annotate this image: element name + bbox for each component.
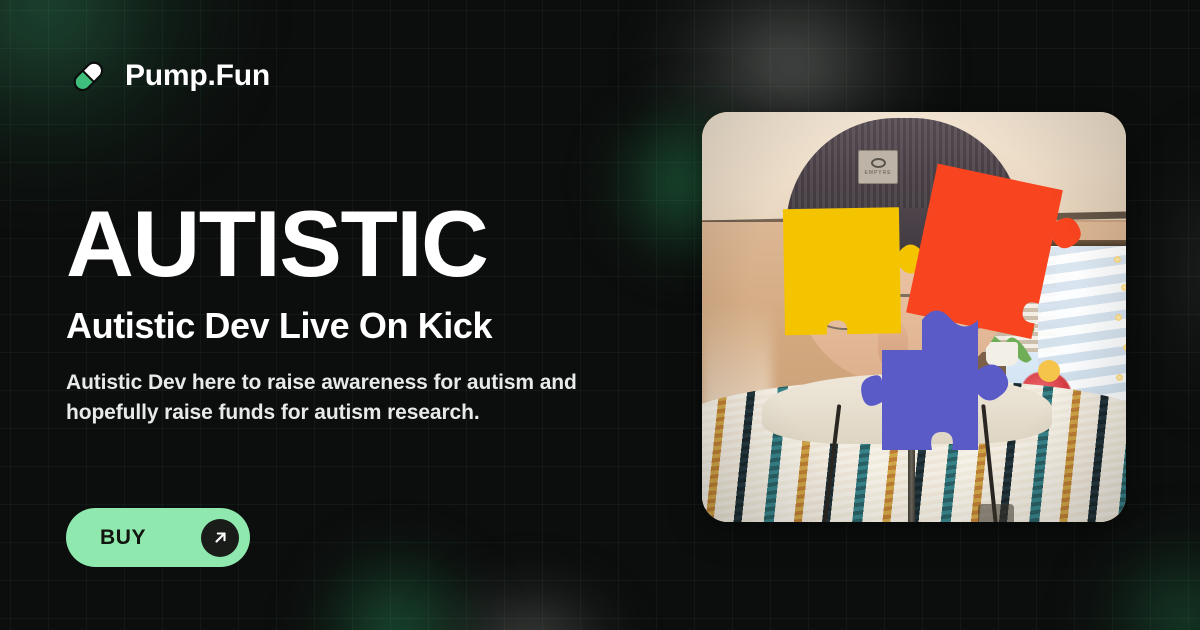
patch-logo-text: EMPYRE bbox=[862, 170, 894, 176]
token-image-card[interactable]: EMPYRE bbox=[702, 112, 1126, 522]
brand-lockup[interactable]: Pump.Fun bbox=[68, 56, 270, 96]
arrow-up-right-icon bbox=[201, 519, 239, 557]
pill-capsule-icon bbox=[68, 56, 108, 96]
patch-logo-mark bbox=[871, 158, 886, 168]
page-subtitle: Autistic Dev Live On Kick bbox=[66, 306, 666, 346]
beanie-brand-patch: EMPYRE bbox=[858, 150, 898, 184]
jacket-brand-logo bbox=[978, 504, 1014, 522]
blue-puzzle-piece bbox=[860, 290, 1046, 458]
card-content: Pump.Fun AUTISTIC Autistic Dev Live On K… bbox=[0, 0, 1200, 630]
page-description: Autistic Dev here to raise awareness for… bbox=[66, 368, 626, 428]
brand-name: Pump.Fun bbox=[125, 61, 270, 91]
page-title: AUTISTIC bbox=[66, 196, 666, 292]
token-photo: EMPYRE bbox=[702, 112, 1126, 522]
og-card-canvas: Pump.Fun AUTISTIC Autistic Dev Live On K… bbox=[0, 0, 1200, 630]
buy-button[interactable]: BUY bbox=[66, 508, 250, 567]
buy-button-label: BUY bbox=[100, 526, 146, 550]
hero-text-block: AUTISTIC Autistic Dev Live On Kick Autis… bbox=[66, 196, 666, 428]
